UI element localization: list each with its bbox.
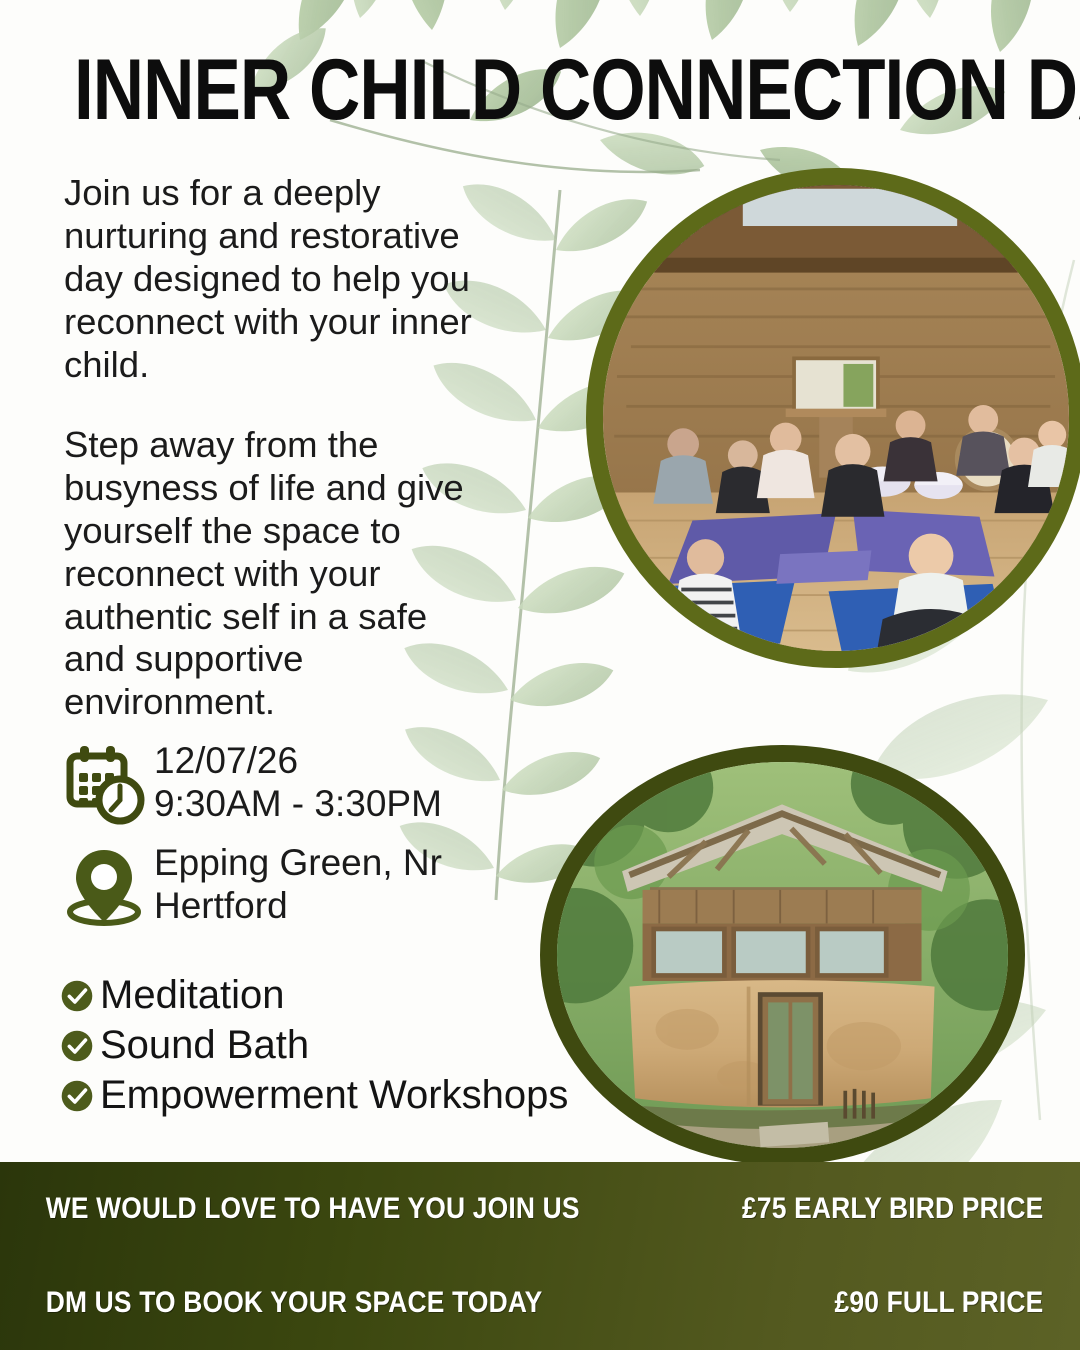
check-circle-icon [60, 979, 94, 1013]
flyer-title: INNER CHILD CONNECTION DAY [74, 48, 976, 132]
location-line-1: Epping Green, Nr [154, 842, 442, 885]
detail-paragraph: Step away from the busyness of life and … [64, 424, 494, 724]
event-time: 9:30AM - 3:30PM [154, 783, 442, 826]
feature-label: Meditation [100, 972, 285, 1019]
date-time-row: 12/07/26 9:30AM - 3:30PM [62, 738, 442, 826]
list-item: Sound Bath [60, 1022, 568, 1069]
event-flyer: INNER CHILD CONNECTION DAY Join us for a… [0, 0, 1080, 1350]
list-item: Meditation [60, 972, 568, 1019]
event-date: 12/07/26 [154, 740, 442, 783]
group-circle-photo [586, 168, 1080, 668]
footer-booking-text: DM US TO BOOK YOUR SPACE TODAY [0, 1286, 580, 1320]
full-price: £90 FULL PRICE [709, 1286, 1080, 1320]
location-text: Epping Green, Nr Hertford [154, 840, 442, 928]
check-circle-icon [60, 1029, 94, 1063]
list-item: Empowerment Workshops [60, 1072, 568, 1119]
date-time-text: 12/07/26 9:30AM - 3:30PM [154, 738, 442, 826]
feature-list: Meditation Sound Bath Empowerment Worksh… [60, 972, 568, 1123]
venue-circle-photo [540, 745, 1025, 1165]
location-line-2: Hertford [154, 885, 442, 928]
event-info-block: 12/07/26 9:30AM - 3:30PM Epping Green, N… [62, 738, 442, 942]
calendar-clock-icon [62, 738, 154, 826]
feature-label: Empowerment Workshops [100, 1072, 568, 1119]
footer-invite-text: WE WOULD LOVE TO HAVE YOU JOIN US [0, 1192, 580, 1226]
intro-paragraph: Join us for a deeply nurturing and resto… [64, 172, 494, 386]
location-row: Epping Green, Nr Hertford [62, 840, 442, 928]
feature-label: Sound Bath [100, 1022, 309, 1069]
early-bird-price: £75 EARLY BIRD PRICE [709, 1192, 1080, 1226]
footer-bar: WE WOULD LOVE TO HAVE YOU JOIN US £75 EA… [0, 1162, 1080, 1350]
check-circle-icon [60, 1079, 94, 1113]
location-pin-icon [62, 840, 154, 928]
